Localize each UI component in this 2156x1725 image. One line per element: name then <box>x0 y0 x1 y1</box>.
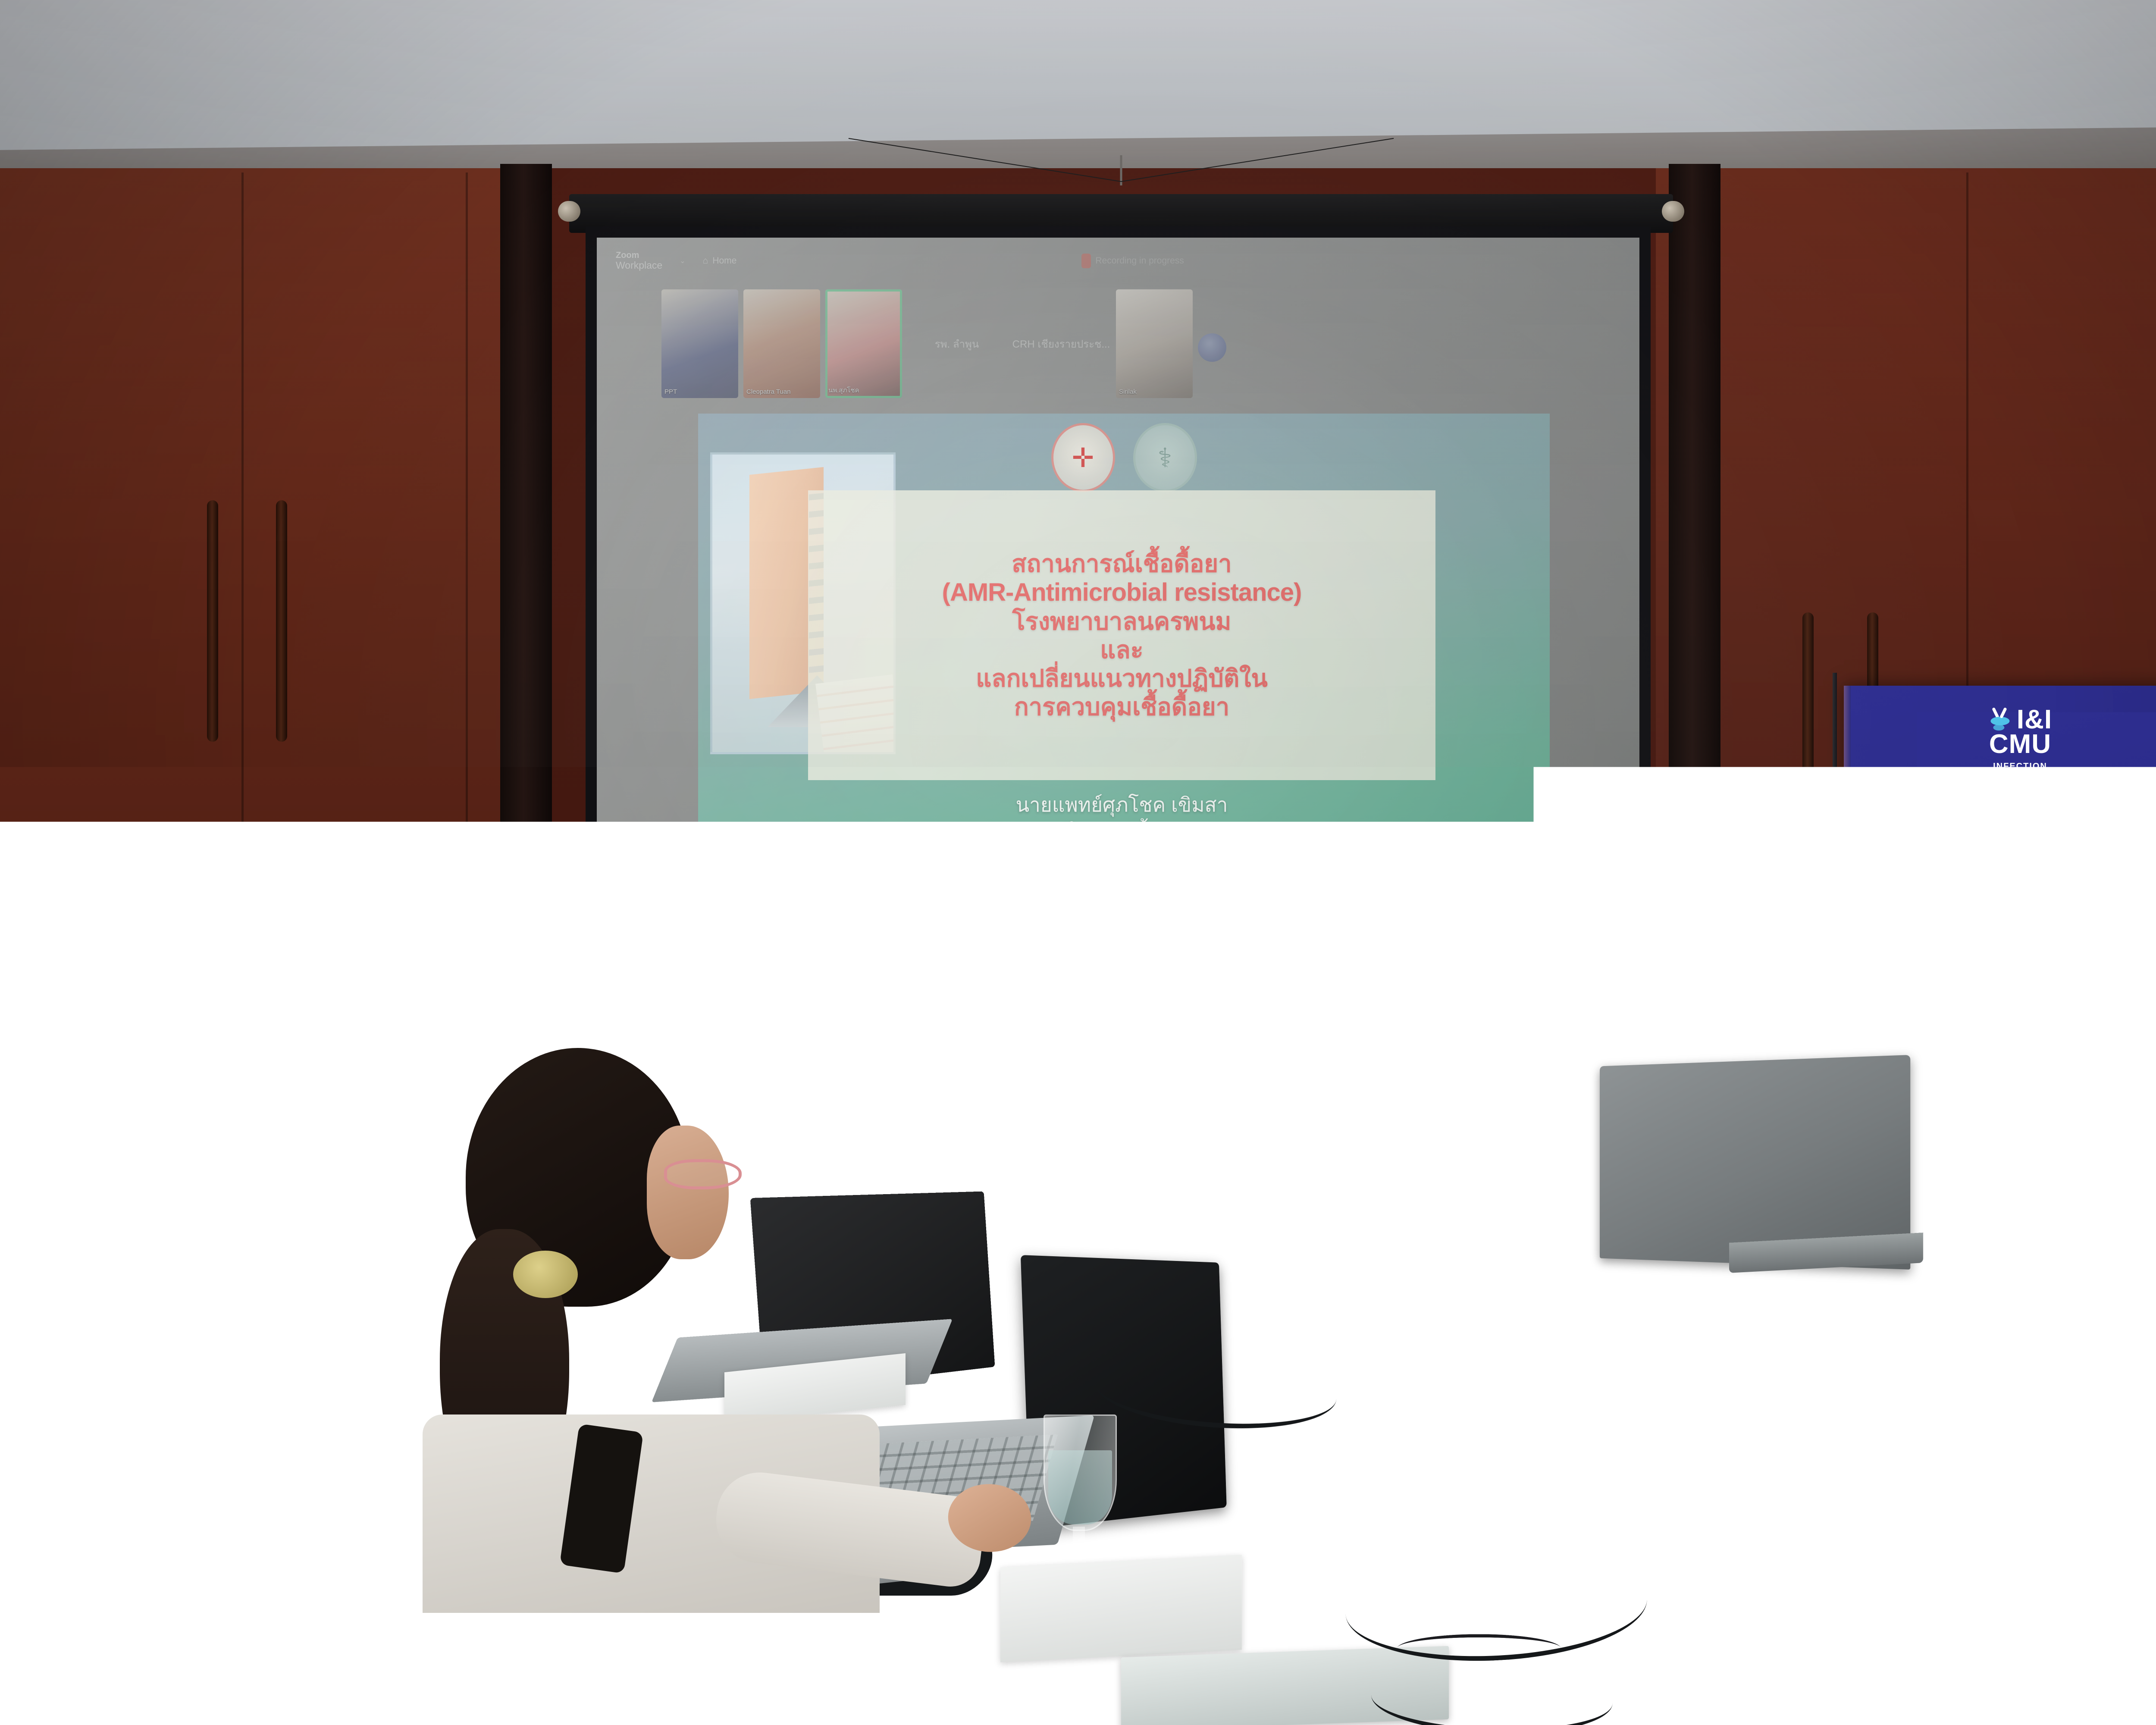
more-button[interactable]: ⋯ More <box>1399 1015 1423 1052</box>
widgets-icon[interactable] <box>951 1081 971 1101</box>
show-hidden-icons[interactable]: ⌃ <box>1463 1085 1471 1096</box>
participant-tile-active[interactable]: นพ.สุภโชค <box>825 289 902 398</box>
chat-icon: ◯ <box>1037 1015 1062 1036</box>
i-and-i-cmu-logo: I&I CMU INFECTION AND IMMUNITY RESEARCH … <box>1973 707 2067 793</box>
slide-title-line-english: (AMR-Antimicrobial resistance) <box>942 578 1302 607</box>
webcam-mount-arm <box>852 1038 902 1065</box>
mute-button[interactable]: 🎙 Mute <box>631 1017 655 1050</box>
chevron-up-icon[interactable]: ⌃ <box>780 1023 786 1031</box>
water-in-glass <box>1643 1436 1707 1516</box>
screen-brand-label: VERTEX <box>1457 1109 1531 1128</box>
camera-head <box>1738 875 1811 923</box>
ai-companion-button[interactable]: ◆ AI Companion <box>1195 1015 1247 1052</box>
zoom-meeting-window[interactable]: Zoom Workplace ⌄ ⌂ Home Recording in pro… <box>597 238 1639 1115</box>
cabinet-handle[interactable] <box>1802 612 1814 828</box>
apps-button[interactable]: ⠿ Apps <box>1347 1015 1372 1052</box>
zoom-titlebar: Zoom Workplace ⌄ ⌂ Home Recording in pro… <box>597 238 1639 284</box>
home-icon: ⌂ <box>703 256 708 266</box>
antibody-petri-dish-icon <box>1988 707 2012 732</box>
chat-button[interactable]: ◯ Chat <box>1037 1015 1062 1052</box>
face <box>2048 1057 2147 1199</box>
antivirus-icon[interactable]: ⛨ <box>1533 1085 1540 1096</box>
bottle-neck <box>1316 1436 1340 1483</box>
taskbar-search[interactable]: ⌕ Search <box>895 1085 939 1097</box>
water-in-glass <box>1048 1450 1112 1524</box>
bottle-cap <box>1314 1419 1342 1438</box>
chevron-up-icon[interactable]: ⌃ <box>687 1023 693 1031</box>
logo-subtitle: INFECTION AND IMMUNITY RESEARCH GROUP <box>1973 761 2067 793</box>
glass-stem-shaft <box>1668 1518 1680 1557</box>
wall-panel-seam <box>241 172 244 1242</box>
outlook-icon[interactable] <box>1110 1081 1130 1101</box>
avatar[interactable] <box>1198 333 1226 362</box>
screen-surface: Zoom Workplace ⌄ ⌂ Home Recording in pro… <box>597 238 1639 1115</box>
apps-icon: ⠿ <box>1347 1015 1372 1036</box>
meeting-info-icon: ⓘ <box>1285 1015 1310 1036</box>
participants-button[interactable]: ⚇ Participants <box>967 1015 1010 1052</box>
file-explorer-icon[interactable] <box>1015 1081 1034 1101</box>
participant-gallery[interactable]: PPT Cleopatra Tuan นพ.สุภโชค รพ. ลำพูน C… <box>597 289 1639 406</box>
water-in-glass <box>1487 1282 1540 1344</box>
battery-icon[interactable]: ▮ <box>1581 1085 1586 1096</box>
slide-logos: ✛ ⚕ <box>1051 423 1197 492</box>
torso-hoodie <box>2031 1212 2156 1725</box>
photos-icon[interactable] <box>983 1081 1003 1101</box>
video-button[interactable]: ▭ Video <box>724 1017 749 1050</box>
slide-presenter-block: นายแพทย์ศุภโชค เขิมสา อายุรแพทย์โรคติดเช… <box>808 793 1435 872</box>
presenter-name: นายแพทย์ศุภโชค เขิมสา <box>1016 793 1228 816</box>
share-screen-icon: ⬆ <box>1141 1015 1168 1040</box>
participant-tile[interactable]: Cleopatra Tuan <box>743 289 820 398</box>
ai-companion-icon: ◆ <box>1209 1015 1233 1036</box>
participants-icon: ⚇ <box>976 1015 1000 1036</box>
search-icon: ⌕ <box>895 1085 900 1097</box>
water-bottle <box>1772 1436 1854 1652</box>
participant-tile[interactable]: PPT <box>661 289 738 398</box>
zoom-icon[interactable] <box>1206 1081 1226 1101</box>
glass-stem-shaft <box>1073 1527 1085 1565</box>
microphone-icon: 🎙 <box>631 1017 655 1038</box>
ministry-of-public-health-emblem: ⚕ <box>1133 423 1197 492</box>
cabinet-handle[interactable] <box>276 500 287 742</box>
face <box>647 1126 729 1259</box>
wine-glass <box>1044 1414 1117 1531</box>
torso <box>224 1544 630 1725</box>
network-icon[interactable]: ⇅ <box>1510 1085 1518 1096</box>
presenter-role: อายุรแพทย์โรคติดเชื้อ รพ.นครพนม <box>971 821 1272 844</box>
slide-title-box: สถานการณ์เชื้อดื้อยา (AMR-Antimicrobial … <box>808 490 1435 780</box>
participant-name-chip[interactable]: CRH เชียงรายประช... <box>1012 289 1111 398</box>
logo-line-2: CMU <box>1973 731 2067 758</box>
roller-cap <box>558 201 580 222</box>
eyeglasses <box>664 1159 742 1189</box>
paper-sheet <box>1000 1555 1242 1662</box>
chrome-icon[interactable] <box>1078 1081 1098 1101</box>
shared-slide: ✛ ⚕ สถานการณ์เชื้อดื้อยา (AMR-Antimicrob… <box>698 414 1550 953</box>
onedrive-icon[interactable]: ☁ <box>1486 1085 1495 1096</box>
wine-glass <box>1483 1251 1544 1350</box>
react-icon: ♡ <box>1089 1015 1113 1036</box>
zoom-home-tab[interactable]: ⌂ Home <box>703 256 737 266</box>
participant-tile[interactable]: Sirilak <box>1116 289 1193 398</box>
slide-title-line: และ <box>1100 636 1144 664</box>
presentation-date: 21 พฤศจิกายน 2568 <box>1034 849 1209 872</box>
participant-name-chip[interactable]: รพ. ลำพูน <box>907 289 1006 398</box>
roller-cap <box>1662 201 1684 222</box>
nakhon-phanom-hospital-emblem: ✛ <box>1051 423 1115 492</box>
meeting-info-button[interactable]: ⓘ Meeting Info <box>1275 1015 1320 1052</box>
chevron-down-icon[interactable]: ⌄ <box>680 257 685 265</box>
cabinet-handle[interactable] <box>207 500 218 742</box>
screen-frame: Zoom Workplace ⌄ ⌂ Home Recording in pro… <box>586 226 1651 1141</box>
edge-icon[interactable] <box>1047 1081 1066 1101</box>
conference-webcam <box>845 992 910 1039</box>
pdf-icon[interactable] <box>1174 1081 1194 1101</box>
video-camera-icon: ▭ <box>724 1017 749 1038</box>
recording-indicator[interactable]: Recording in progress <box>1081 254 1184 268</box>
volume-icon[interactable]: 🔊 <box>1554 1085 1566 1096</box>
attendee-right <box>2018 1009 2156 1725</box>
slide-title-line: โรงพยาบาลนครพนม <box>1012 608 1232 635</box>
react-button[interactable]: ♡ React <box>1089 1015 1113 1052</box>
more-icon: ⋯ <box>1399 1015 1423 1036</box>
slide-title-line: การควบคุมเชื้อดื้อยา <box>1014 693 1229 721</box>
conference-room-scene: Zoom Workplace ⌄ ⌂ Home Recording in pro… <box>0 0 2156 1725</box>
zoom-brand: Zoom Workplace <box>616 251 662 270</box>
record-icon <box>1081 254 1091 268</box>
excel-icon[interactable] <box>1142 1081 1162 1101</box>
attendee-front-left <box>224 1354 630 1725</box>
hair-tie <box>513 1251 578 1298</box>
bottle-neck <box>1545 1177 1564 1207</box>
slide-title-line: แลกเปลี่ยนแนวทางปฏิบัติใน <box>976 665 1268 692</box>
projector-screen-assembly: Zoom Workplace ⌄ ⌂ Home Recording in pro… <box>569 181 1673 1156</box>
slide-title-line: สถานการณ์เชื้อดื้อยา <box>1012 550 1232 577</box>
share-screen-button[interactable]: ⬆ Share <box>1141 1015 1168 1052</box>
